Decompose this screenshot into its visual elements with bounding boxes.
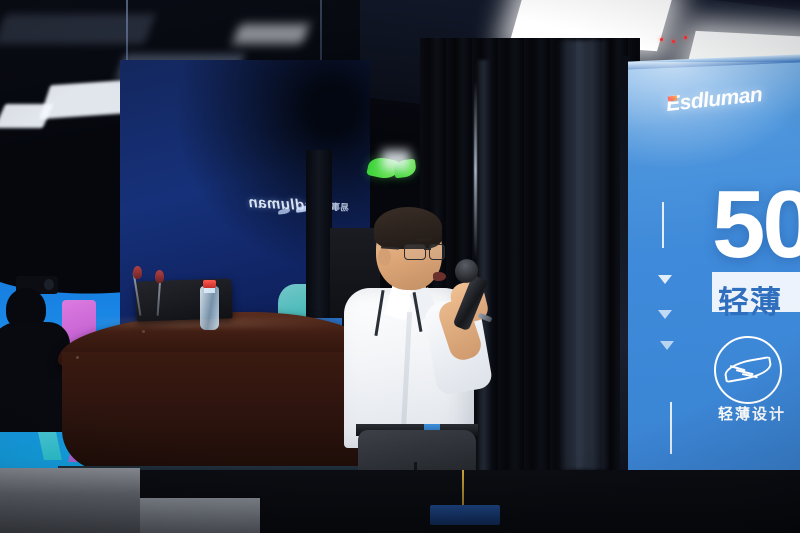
indicator-led-2 [672, 40, 675, 43]
floor-platform-center [140, 498, 260, 533]
speaker-ear [378, 248, 391, 266]
banner-feature-label: 轻薄设计 [718, 403, 786, 424]
banner-triangle-marker-1 [658, 275, 672, 284]
curtain-sheen-main [556, 40, 608, 470]
indicator-led-3 [684, 36, 687, 39]
audience-member-body [0, 322, 70, 432]
podium-mic-head-2 [155, 270, 164, 283]
camera-lens-icon [44, 279, 54, 290]
water-bottle-cap [203, 280, 216, 288]
light-reflection-5 [233, 24, 309, 44]
light-reflection-7 [0, 14, 155, 44]
speaker-mouth [433, 272, 446, 281]
speaker-glasses-lens-right [429, 244, 445, 260]
green-graphic-glow [382, 150, 410, 170]
floor-equipment-box [430, 505, 500, 525]
banner-triangle-marker-2 [658, 310, 672, 319]
podium-mic-head-1 [133, 266, 142, 279]
banner-highlight-text: 轻薄 [718, 277, 782, 322]
speaker-glasses-bridge [424, 248, 431, 250]
floor-platform-left [0, 468, 140, 533]
banner-big-number: 50 [712, 186, 800, 265]
speaker-glasses-lens-left [404, 244, 426, 260]
banner-triangle-marker-3 [660, 341, 674, 350]
curtain-edge-glint [474, 80, 477, 260]
indicator-led-1 [660, 38, 663, 41]
banner-rule-bottom [670, 402, 672, 454]
speaker-hair [374, 207, 442, 249]
banner-brand-accent-mark [668, 96, 677, 102]
podium-screw-1 [142, 330, 145, 333]
stage-photo-scene: Esdluman 易事达 Esdluman 50 轻薄 轻薄设计 [0, 0, 800, 533]
podium-screw-2 [76, 356, 79, 359]
banner-rule-top [662, 202, 664, 248]
floor-rod [462, 470, 464, 510]
podium-front-panel [62, 352, 362, 470]
